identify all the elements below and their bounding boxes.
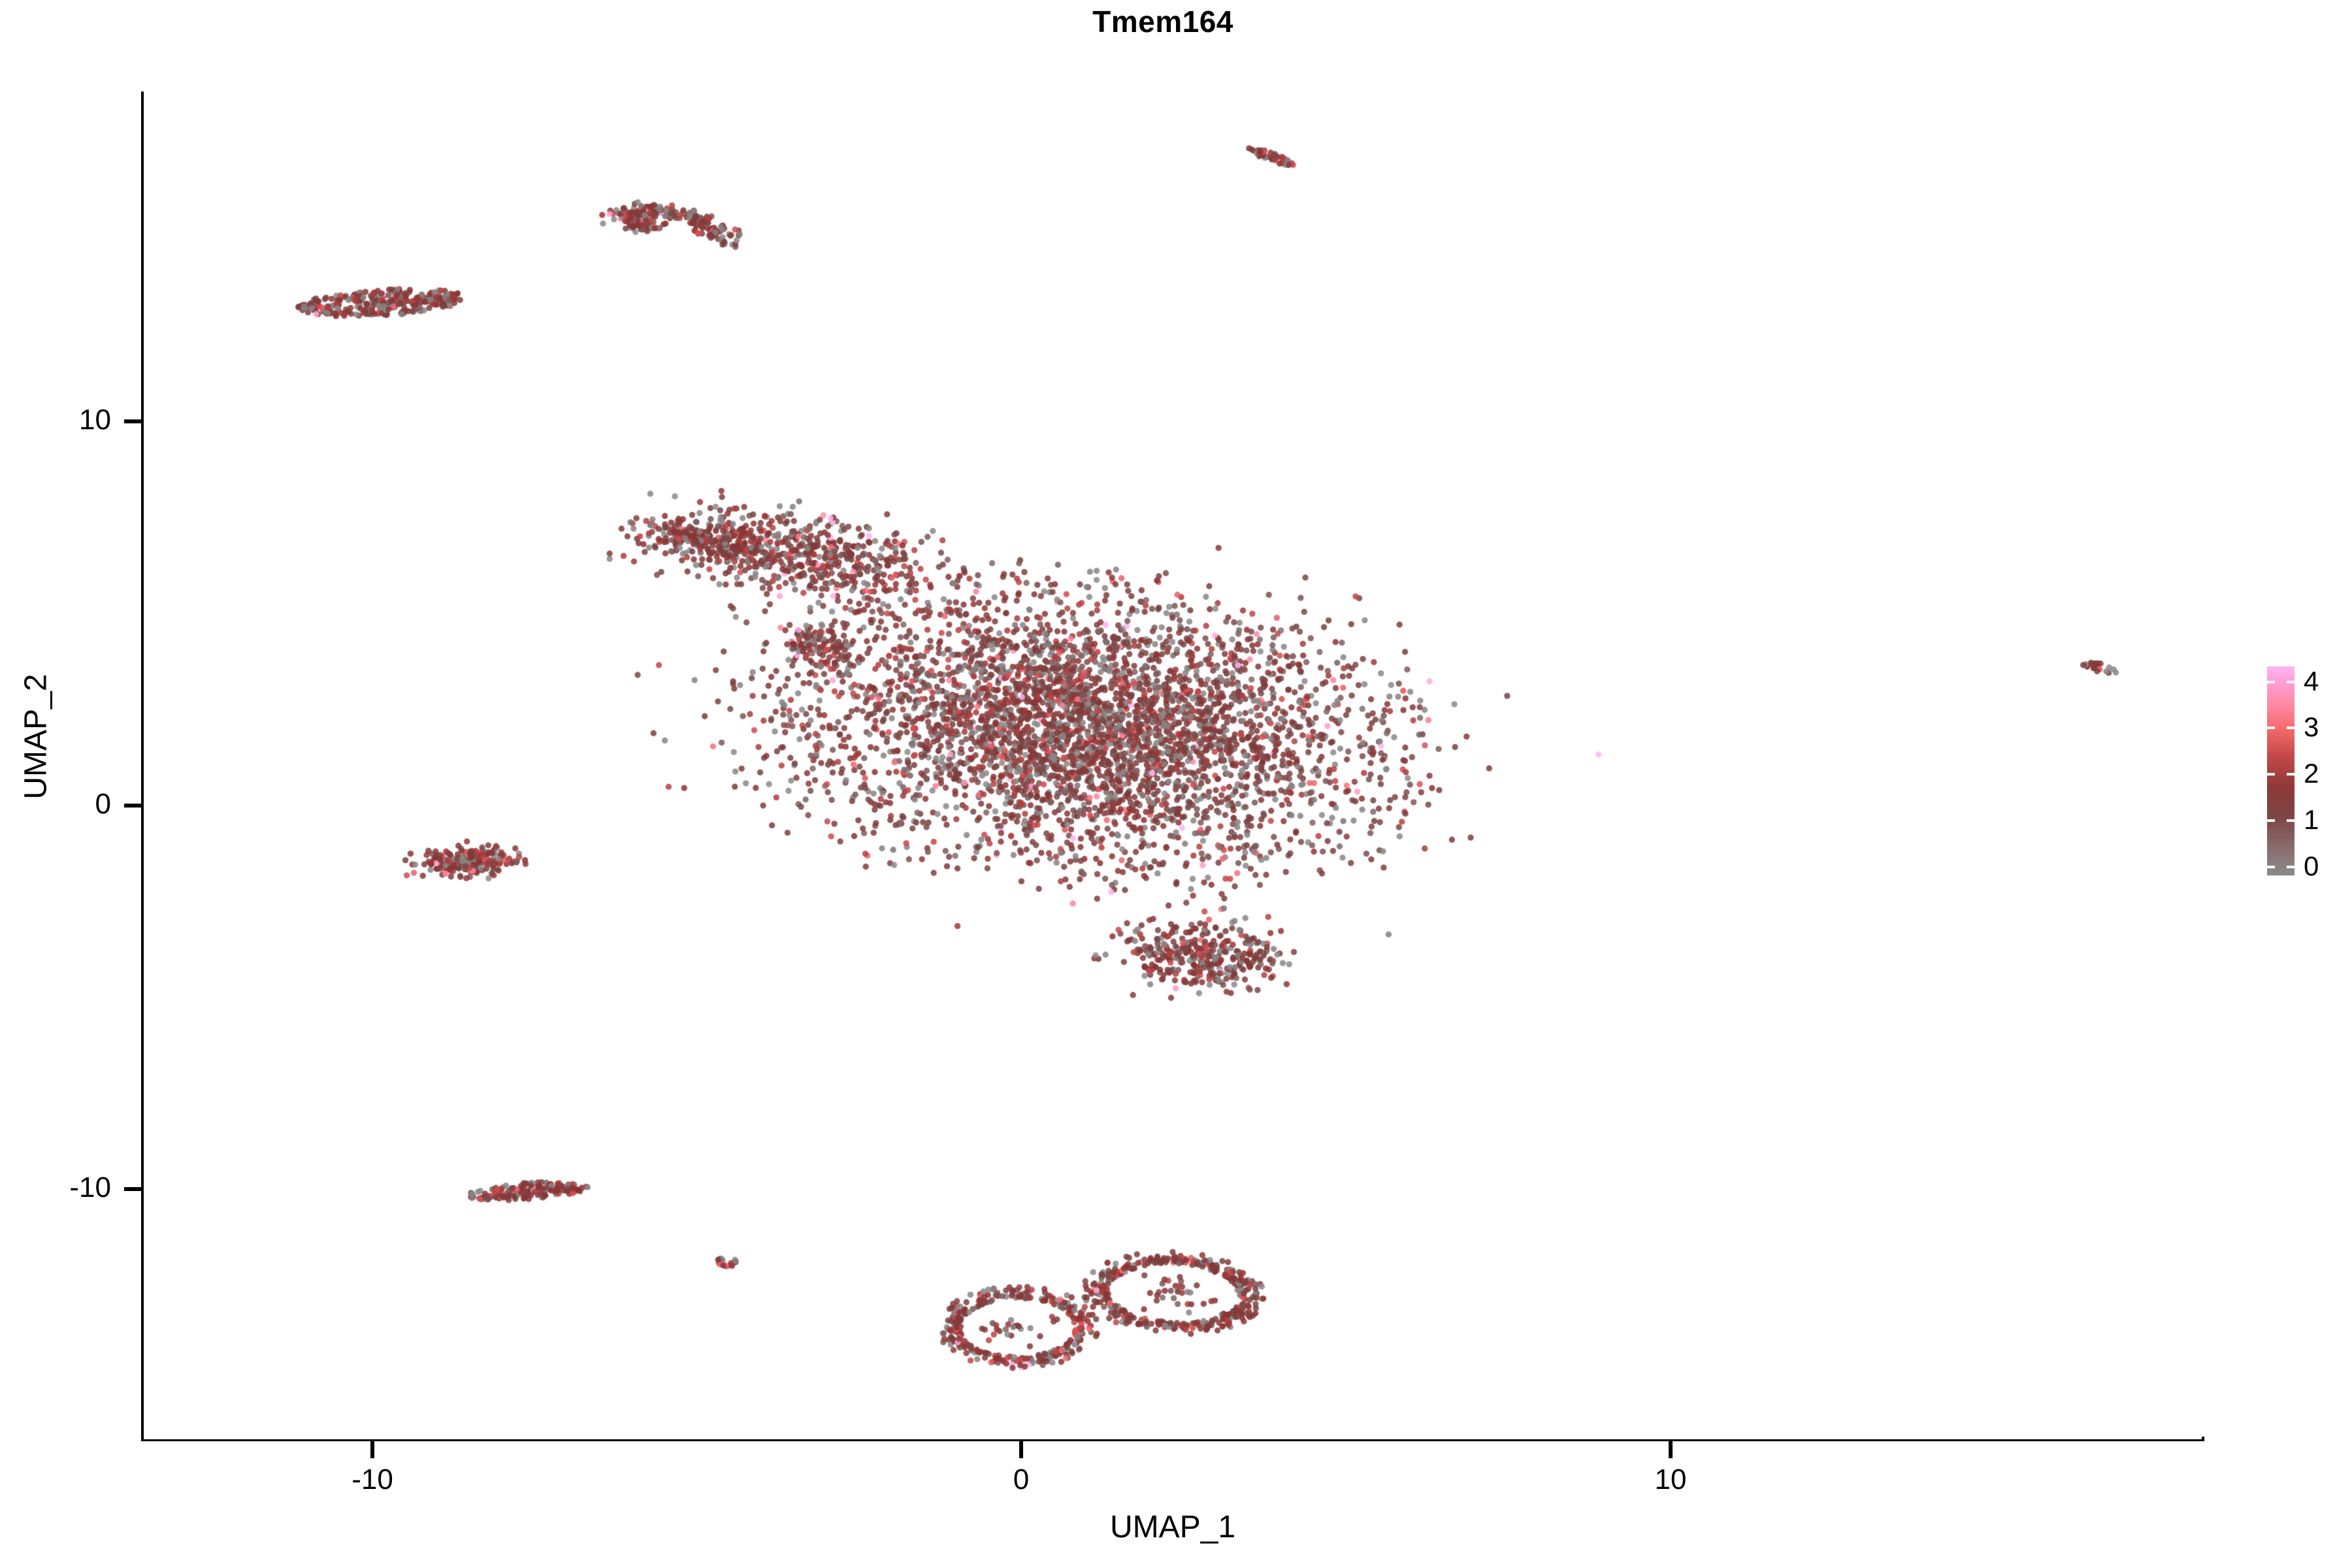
y-tick-mark-0 (124, 804, 141, 808)
colorbar-tick-2-right (2287, 773, 2295, 776)
plot-root: Tmem164 10 0 -10 -10 0 10 UMAP_1 UMAP_2 … (0, 0, 2352, 1568)
colorbar-tick-3-left (2267, 727, 2275, 729)
x-tick-label-10: 10 (1592, 1463, 1749, 1496)
colorbar-label-4: 4 (2304, 668, 2319, 695)
x-axis-title: UMAP_1 (144, 1509, 2202, 1545)
colorbar-tick-4-left (2267, 681, 2275, 683)
x-tick-label-neg10: -10 (294, 1463, 451, 1496)
x-tick-mark-0 (1019, 1441, 1023, 1458)
colorbar-tick-4-right (2287, 681, 2295, 683)
y-axis-title: UMAP_2 (18, 567, 54, 907)
colorbar-legend: 4 3 2 1 0 (2267, 666, 2352, 875)
x-tick-mark-10 (1669, 1441, 1673, 1458)
colorbar-label-0: 0 (2304, 853, 2319, 880)
plot-panel (144, 91, 2202, 1439)
scatter-canvas (144, 91, 2202, 1439)
colorbar-tick-0-right (2287, 866, 2295, 868)
colorbar-tick-1-right (2287, 819, 2295, 822)
colorbar-tick-3-right (2287, 727, 2295, 729)
colorbar-label-3: 3 (2304, 713, 2319, 741)
y-tick-label-10: 10 (79, 404, 111, 436)
colorbar-tick-1-left (2267, 819, 2275, 822)
x-tick-mark-neg10 (370, 1441, 374, 1458)
page-title: Tmem164 (0, 4, 2326, 39)
colorbar-tick-0-left (2267, 866, 2275, 868)
colorbar-gradient (2267, 666, 2295, 875)
y-tick-mark-neg10 (124, 1187, 141, 1191)
colorbar-tick-2-left (2267, 773, 2275, 776)
x-tick-label-0: 0 (943, 1463, 1100, 1496)
colorbar-label-1: 1 (2304, 806, 2319, 834)
y-tick-mark-10 (124, 419, 141, 423)
colorbar-label-2: 2 (2304, 760, 2319, 787)
y-tick-label-neg10: -10 (69, 1171, 111, 1204)
y-tick-label-0: 0 (95, 788, 111, 821)
